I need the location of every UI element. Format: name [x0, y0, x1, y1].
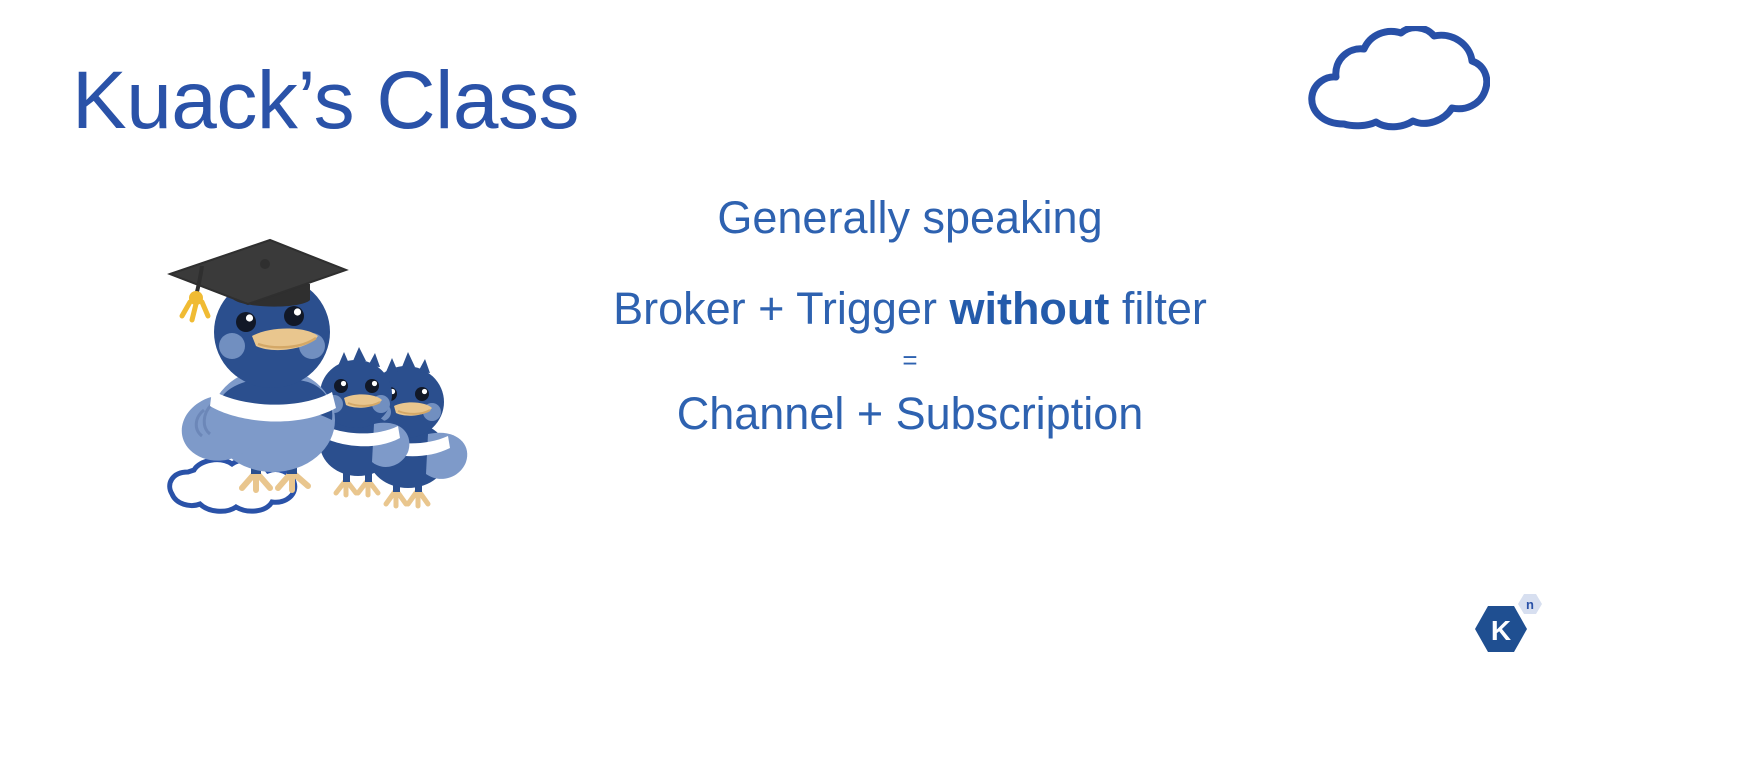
birds-illustration [160, 222, 510, 522]
formula-emphasis: without [949, 283, 1109, 334]
formula-suffix: filter [1109, 283, 1207, 334]
cloud-outline-icon [1300, 26, 1490, 136]
statement-block: Generally speaking Broker + Trigger with… [520, 195, 1300, 436]
page-title: Kuack’s Class [72, 58, 579, 144]
logo-letter-n: n [1526, 597, 1534, 612]
slide-canvas: Kuack’s Class [0, 0, 1742, 762]
logo-letter-k: K [1491, 615, 1511, 646]
knative-logo: K n [1452, 592, 1548, 672]
statement-intro: Generally speaking [520, 195, 1300, 240]
statement-formula-right: Channel + Subscription [520, 391, 1300, 436]
statement-formula-left: Broker + Trigger without filter [520, 286, 1300, 331]
formula-prefix: Broker + Trigger [613, 283, 949, 334]
bird-graduate [170, 240, 346, 490]
equals-sign: = [520, 347, 1300, 373]
